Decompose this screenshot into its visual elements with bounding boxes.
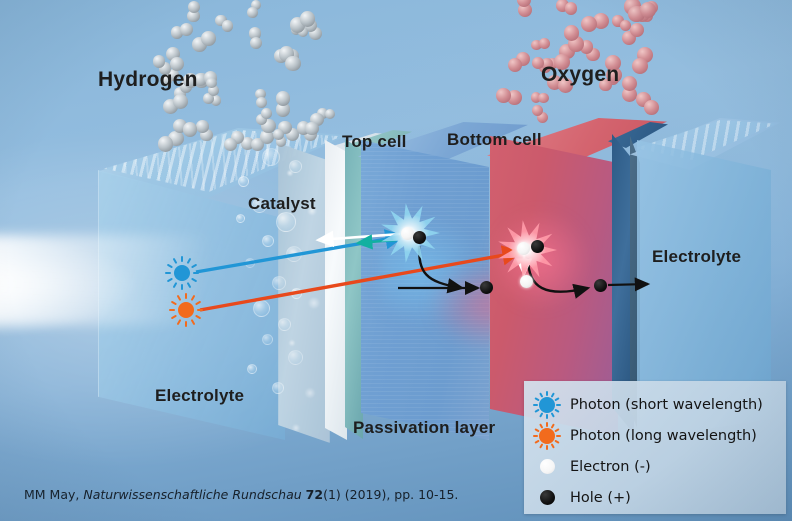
photon-core xyxy=(178,302,194,318)
photon-ray xyxy=(533,404,538,406)
photon-core xyxy=(539,428,555,444)
photon-ray xyxy=(554,408,559,412)
caption-journal: Naturwissenschaftliche Rundschau xyxy=(83,487,301,502)
legend-item-label: Hole (+) xyxy=(570,490,631,506)
legend-item-2: Electron (-) xyxy=(524,450,786,483)
legend-item-0: Photon (short wavelength) xyxy=(524,388,786,421)
photon-ray xyxy=(181,284,183,290)
label-catalyst: Catalyst xyxy=(248,194,316,214)
label-electrolyte-left: Electrolyte xyxy=(155,386,244,406)
figure-caption: MM May, Naturwissenschaftliche Rundschau… xyxy=(24,487,458,502)
photon-ray xyxy=(197,309,203,311)
electron-top-cell xyxy=(401,227,414,240)
photon-ray xyxy=(551,392,555,397)
photon-ray xyxy=(554,439,559,443)
photon-ray xyxy=(191,295,196,301)
photon-ray xyxy=(539,392,543,397)
label-passivation-layer: Passivation layer xyxy=(353,418,495,438)
photon-ray xyxy=(551,423,555,428)
photon-ray xyxy=(191,264,197,269)
photon-core xyxy=(539,397,555,413)
photon-ray xyxy=(533,435,538,437)
hole-bottom-cell xyxy=(531,240,544,253)
caption-issue: (1) (2019), pp. 10-15. xyxy=(323,487,458,502)
photon-ray xyxy=(556,404,561,406)
photon-ray xyxy=(177,295,182,301)
photon-ray xyxy=(193,272,199,274)
hole-transport-mid xyxy=(480,281,493,294)
label-hydrogen: Hydrogen xyxy=(98,68,198,92)
legend-item-label: Photon (long wavelength) xyxy=(570,428,757,444)
photon-ray xyxy=(187,282,192,288)
photon-long-ray xyxy=(200,252,521,310)
photon-ray xyxy=(173,258,178,264)
photon-ray xyxy=(173,282,178,288)
photon-ray xyxy=(167,278,173,283)
photon-ray xyxy=(185,293,187,299)
hole-transport-right xyxy=(594,279,607,292)
label-bottom-cell: Bottom cell xyxy=(447,130,542,150)
photon-ray xyxy=(539,423,543,428)
photon-ray xyxy=(191,278,197,283)
photon-ray xyxy=(195,315,201,320)
photon-ray xyxy=(534,428,539,432)
figure-canvas: Hydrogen Oxygen Top cell Bottom cell Cat… xyxy=(0,0,792,521)
photon-ray xyxy=(167,264,173,269)
photon-ray xyxy=(171,315,177,320)
photon-ray xyxy=(554,397,559,401)
photon-ray xyxy=(195,301,201,306)
hole-dot xyxy=(540,490,555,505)
photon-ray xyxy=(546,391,548,396)
electron-recombination xyxy=(520,275,533,288)
photon-ray xyxy=(551,443,555,448)
photon-ray xyxy=(546,445,548,450)
photon-ray xyxy=(556,435,561,437)
photon-ray xyxy=(177,319,182,325)
photon-ray xyxy=(181,256,183,262)
label-electrolyte-right: Electrolyte xyxy=(652,247,741,267)
photon-ray xyxy=(191,319,196,325)
photon-ray xyxy=(165,272,171,274)
legend-item-3: Hole (+) xyxy=(524,481,786,514)
photon-ray xyxy=(171,301,177,306)
photon-ray xyxy=(554,428,559,432)
photon-ray xyxy=(551,412,555,417)
photon-blue-sun-icon xyxy=(524,388,570,421)
photon-ray xyxy=(546,414,548,419)
photon-ray xyxy=(546,422,548,427)
legend-item-label: Electron (-) xyxy=(570,459,651,475)
hole-curve-bottom-cell xyxy=(528,258,588,292)
legend-item-label: Photon (short wavelength) xyxy=(570,397,763,413)
photon-ray xyxy=(534,397,539,401)
label-top-cell: Top cell xyxy=(342,132,407,152)
photon-ray xyxy=(187,258,192,264)
caption-volume: 72 xyxy=(306,487,323,502)
electron-dot xyxy=(540,459,555,474)
hole-dot-icon xyxy=(524,481,570,514)
photon-ray xyxy=(539,412,543,417)
hole-to-right-electrolyte-arrow xyxy=(608,284,648,285)
photon-ray xyxy=(539,443,543,448)
photon-ray xyxy=(185,321,187,327)
photon-long-wavelength-marker xyxy=(169,293,203,327)
electron-bottom-cell xyxy=(517,242,530,255)
photon-short-wavelength-marker xyxy=(165,256,199,290)
photon-core xyxy=(174,265,190,281)
label-oxygen: Oxygen xyxy=(541,63,619,87)
photon-orange-sun-icon xyxy=(524,419,570,452)
photon-ray xyxy=(534,439,539,443)
caption-authors: MM May, xyxy=(24,487,79,502)
legend-panel: Photon (short wavelength)Photon (long wa… xyxy=(524,381,786,514)
hole-top-cell xyxy=(413,231,426,244)
legend-item-1: Photon (long wavelength) xyxy=(524,419,786,452)
photon-ray xyxy=(534,408,539,412)
electron-dot-icon xyxy=(524,450,570,483)
photon-ray xyxy=(169,309,175,311)
